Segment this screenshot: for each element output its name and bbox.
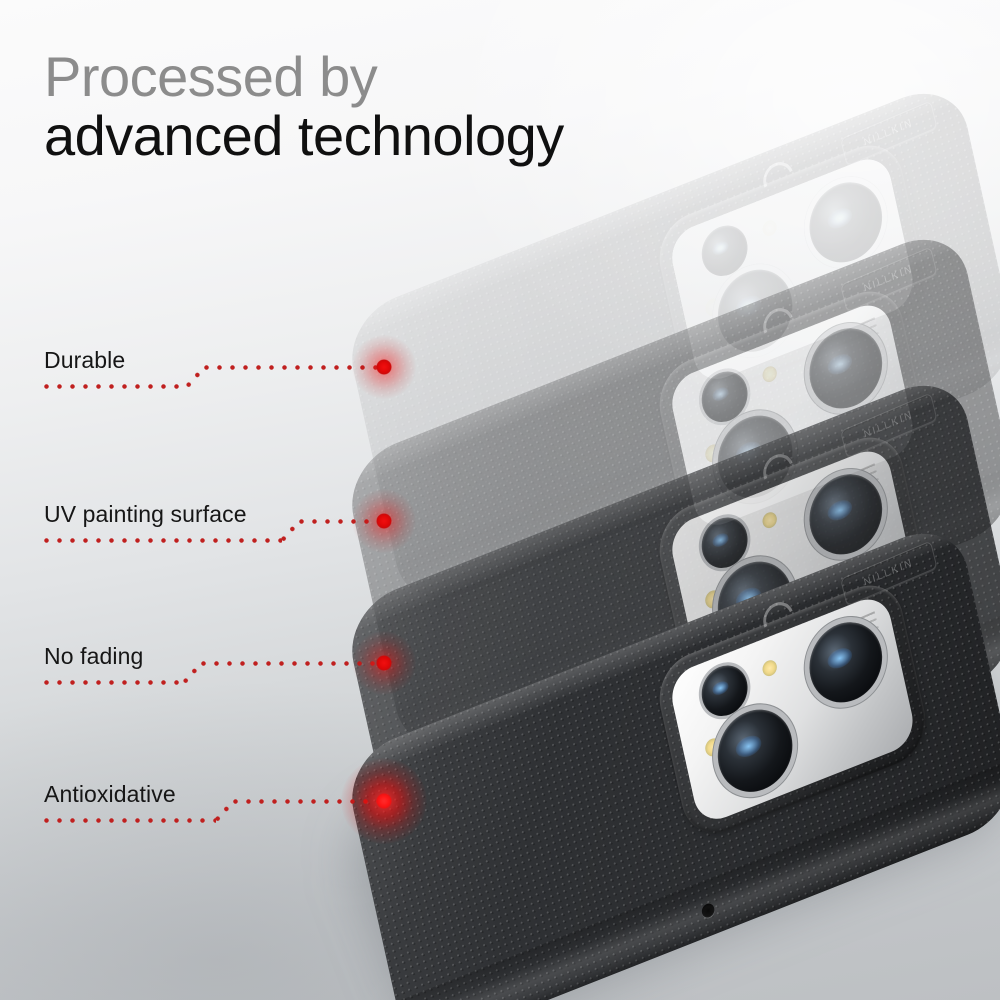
case-top-edge (342, 369, 962, 637)
callout-underline (44, 680, 184, 685)
camera-lens-tele (802, 611, 889, 714)
callout-underline (44, 384, 187, 389)
brand-emboss: NILLKIN (840, 392, 937, 458)
camera-engraving (817, 171, 881, 221)
case-texture (342, 223, 1000, 761)
case-body (342, 223, 1000, 761)
callout-marker-durable (376, 359, 392, 375)
camera-lens-wide (697, 218, 752, 283)
camera-island (652, 574, 933, 845)
callout-marker-antioxidative (376, 793, 392, 809)
case-bottom-rail (396, 760, 1000, 1000)
callout-underline (44, 818, 216, 823)
callout-uv-painting-surface: UV painting surface (44, 500, 394, 546)
camera-engraving (817, 317, 881, 367)
brand-emboss: NILLKIN (840, 100, 937, 166)
camera-lens-wide (697, 510, 752, 575)
flash-ring-icon (759, 158, 799, 199)
callout-label-no-fading: No fading (44, 643, 143, 670)
camera-lens-wide (697, 364, 752, 429)
brand-emboss: NILLKIN (840, 540, 937, 606)
camera-island (652, 426, 933, 697)
microphone-hole (701, 902, 716, 920)
camera-lens-main (710, 698, 800, 804)
callout-leader (233, 799, 389, 804)
headline-line-1: Processed by (44, 48, 564, 105)
flash-ring-icon (759, 598, 799, 639)
camera-lens-main (710, 550, 800, 656)
camera-engraving (817, 611, 881, 661)
camera-plate (667, 297, 918, 533)
flash-sensor (704, 736, 724, 759)
headline: Processed by advanced technology (44, 48, 564, 164)
callout-durable: Durable (44, 346, 394, 392)
flash-sensor (704, 296, 724, 319)
camera-island (652, 134, 933, 405)
case-body (342, 517, 1000, 1000)
camera-plate (667, 151, 918, 387)
case-texture (342, 369, 1000, 907)
camera-lens-tele (802, 171, 889, 274)
phone-case-layer-3: NILLKIN (342, 369, 1000, 907)
callout-label-antioxidative: Antioxidative (44, 781, 176, 808)
camera-plate (667, 591, 918, 827)
headline-line-2: advanced technology (44, 107, 564, 164)
case-drop-shadow (338, 591, 1000, 1000)
camera-lens-wide (697, 658, 752, 723)
camera-lens-tele (802, 317, 889, 420)
flash-ring-icon (759, 450, 799, 491)
flash-led (761, 364, 778, 384)
case-top-edge (342, 517, 962, 785)
callout-leader (201, 661, 388, 666)
callout-marker-no-fading (376, 655, 392, 671)
case-body (342, 369, 1000, 907)
callout-label-durable: Durable (44, 347, 125, 374)
phone-case-layer-2: NILLKIN (342, 223, 1000, 761)
flash-sensor (704, 442, 724, 465)
callout-underline (44, 538, 282, 543)
callout-leader (204, 365, 388, 370)
flash-led (761, 218, 778, 238)
flash-led (761, 510, 778, 530)
case-bottom-rail (396, 612, 1000, 907)
case-texture (342, 517, 1000, 1000)
callout-no-fading: No fading (44, 642, 394, 688)
camera-island (652, 280, 933, 551)
brand-emboss: NILLKIN (840, 246, 937, 312)
case-bottom-rail (396, 320, 1000, 615)
flash-ring-icon (759, 304, 799, 345)
camera-lens-main (710, 258, 800, 364)
callout-label-uv-painting-surface: UV painting surface (44, 501, 247, 528)
camera-lens-main (710, 404, 800, 510)
callout-antioxidative: Antioxidative (44, 780, 394, 826)
case-top-edge (342, 223, 962, 491)
product-feature-banner: NILLKIN NILLKIN (0, 0, 1000, 1000)
phone-case-layer-4: NILLKIN (342, 517, 1000, 1000)
camera-engraving (817, 463, 881, 513)
flash-sensor (704, 588, 724, 611)
flash-led (761, 658, 778, 678)
camera-lens-tele (802, 463, 889, 566)
camera-plate (667, 443, 918, 679)
callout-marker-uv-painting-surface (376, 513, 392, 529)
case-bottom-rail (396, 466, 1000, 761)
